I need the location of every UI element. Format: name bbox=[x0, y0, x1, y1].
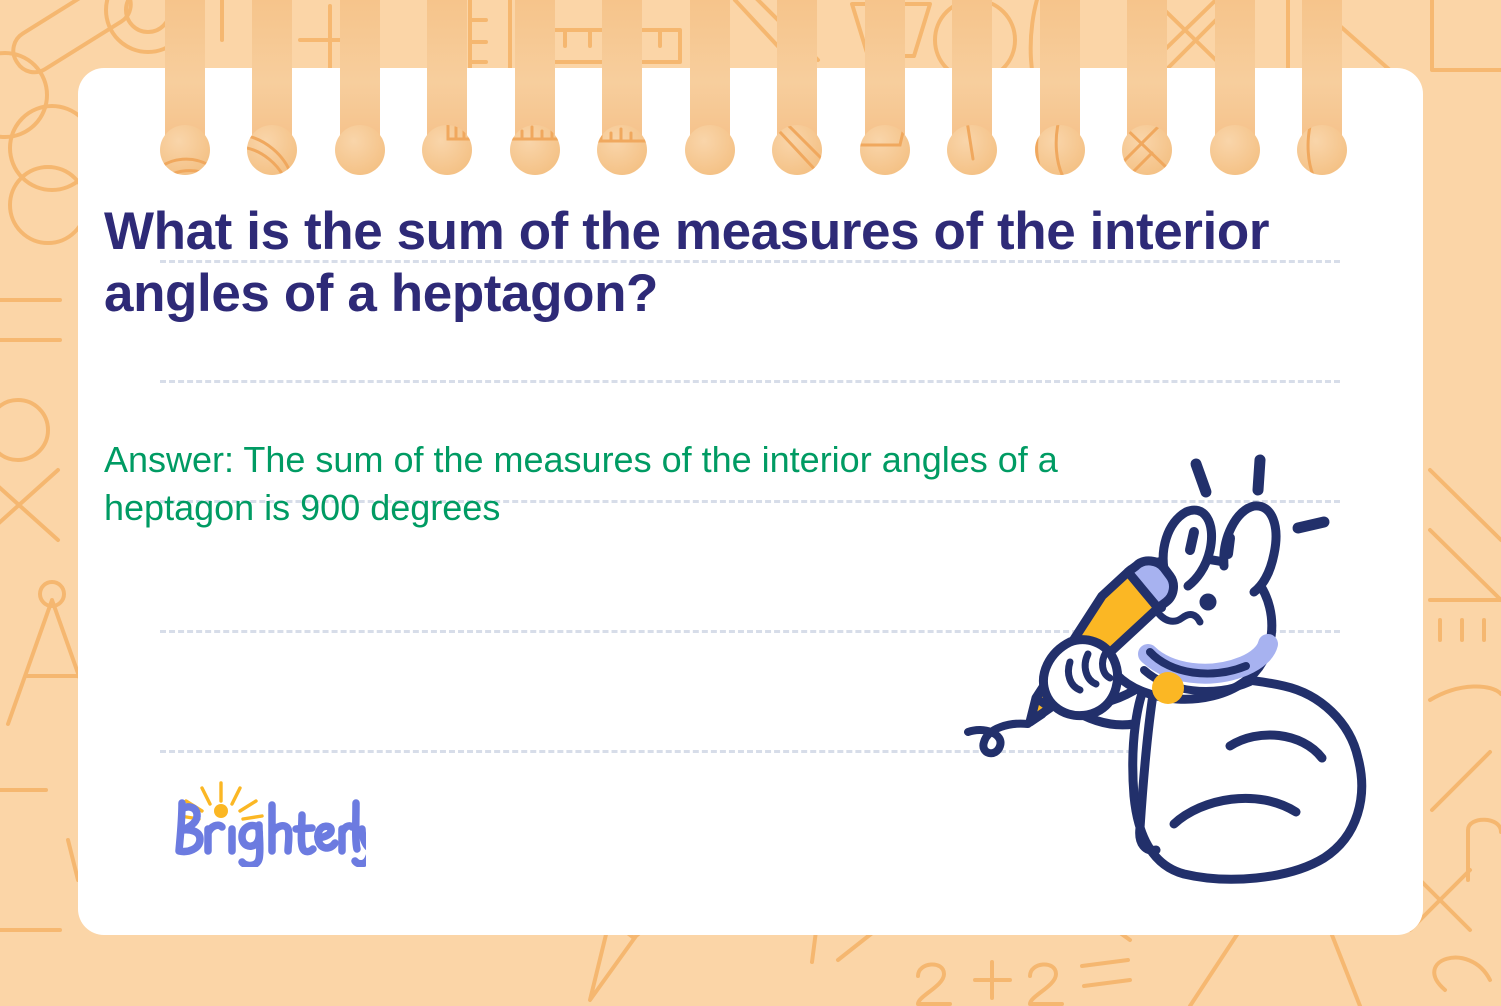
mascot-ear-tick-right bbox=[1228, 538, 1230, 554]
answer-text: Answer: The sum of the measures of the i… bbox=[104, 436, 1104, 531]
mascot-eye-right bbox=[1200, 594, 1217, 611]
excitement-mark-left bbox=[1196, 464, 1206, 492]
mascot-collar-tag bbox=[1152, 672, 1184, 704]
note-card: What is the sum of the measures of the i… bbox=[78, 68, 1423, 935]
poster-canvas: What is the sum of the measures of the i… bbox=[0, 0, 1501, 1006]
logo-wordmark bbox=[179, 803, 366, 865]
mascot-body bbox=[1133, 674, 1362, 879]
pencil-scribble bbox=[968, 724, 1028, 754]
rule-line-2 bbox=[160, 380, 1340, 383]
bunny-mascot-illustration bbox=[958, 446, 1388, 886]
mascot-ear-tick-left bbox=[1190, 532, 1194, 550]
excitement-mark-right bbox=[1258, 460, 1260, 490]
sun-core bbox=[214, 804, 228, 818]
brighterly-logo[interactable] bbox=[166, 781, 366, 867]
question-heading: What is the sum of the measures of the i… bbox=[104, 201, 1344, 325]
excitement-mark-side bbox=[1298, 522, 1324, 528]
